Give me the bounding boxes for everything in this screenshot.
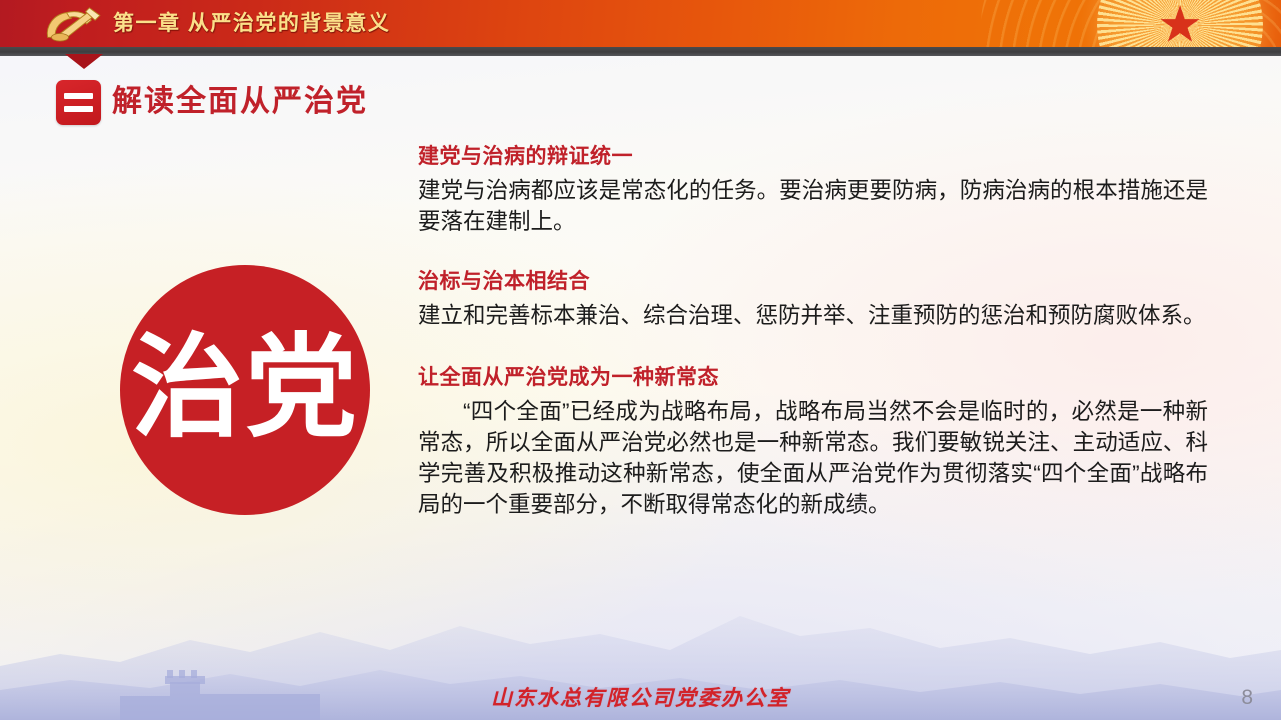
content-area: 建党与治病的辩证统一 建党与治病都应该是常态化的任务。要治病更要防病，防病治病的…	[418, 140, 1208, 542]
block-title: 建党与治病的辩证统一	[418, 140, 1208, 170]
block-body: “四个全面”已经成为战略布局，战略布局当然不会是临时的，必然是一种新常态，所以全…	[418, 396, 1208, 520]
slide-header: 第一章 从严治党的背景意义	[0, 0, 1281, 47]
circle-emblem: 治党	[120, 265, 370, 515]
section-number-badge	[56, 80, 101, 125]
header-divider	[0, 47, 1281, 56]
chapter-title: 第一章 从严治党的背景意义	[113, 7, 390, 37]
content-block: 让全面从严治党成为一种新常态 “四个全面”已经成为战略布局，战略布局当然不会是临…	[418, 361, 1208, 520]
star-burst-icon	[1097, 0, 1263, 47]
content-block: 治标与治本相结合 建立和完善标本兼治、综合治理、惩防并举、注重预防的惩治和预防腐…	[418, 265, 1208, 331]
slide-canvas: 第一章 从严治党的背景意义 解读全面从严治党 治党 建党与治病的辩证统一 建党与…	[0, 0, 1281, 720]
block-body: 建立和完善标本兼治、综合治理、惩防并举、注重预防的惩治和预防腐败体系。	[418, 300, 1208, 331]
page-number: 8	[1241, 686, 1253, 710]
triangle-down-icon	[65, 54, 103, 69]
content-block: 建党与治病的辩证统一 建党与治病都应该是常态化的任务。要治病更要防病，防病治病的…	[418, 140, 1208, 237]
badge-bar-bottom	[64, 106, 93, 112]
section-heading: 解读全面从严治党	[112, 76, 368, 120]
hammer-and-sickle-icon	[34, 3, 112, 45]
block-title: 让全面从严治党成为一种新常态	[418, 361, 1208, 391]
badge-bar-top	[64, 93, 93, 99]
circle-emblem-text: 治党	[131, 332, 359, 444]
block-title: 治标与治本相结合	[418, 265, 1208, 295]
block-body: 建党与治病都应该是常态化的任务。要治病更要防病，防病治病的根本措施还是要落在建制…	[418, 175, 1208, 237]
footer-organization: 山东水总有限公司党委办公室	[0, 682, 1281, 712]
